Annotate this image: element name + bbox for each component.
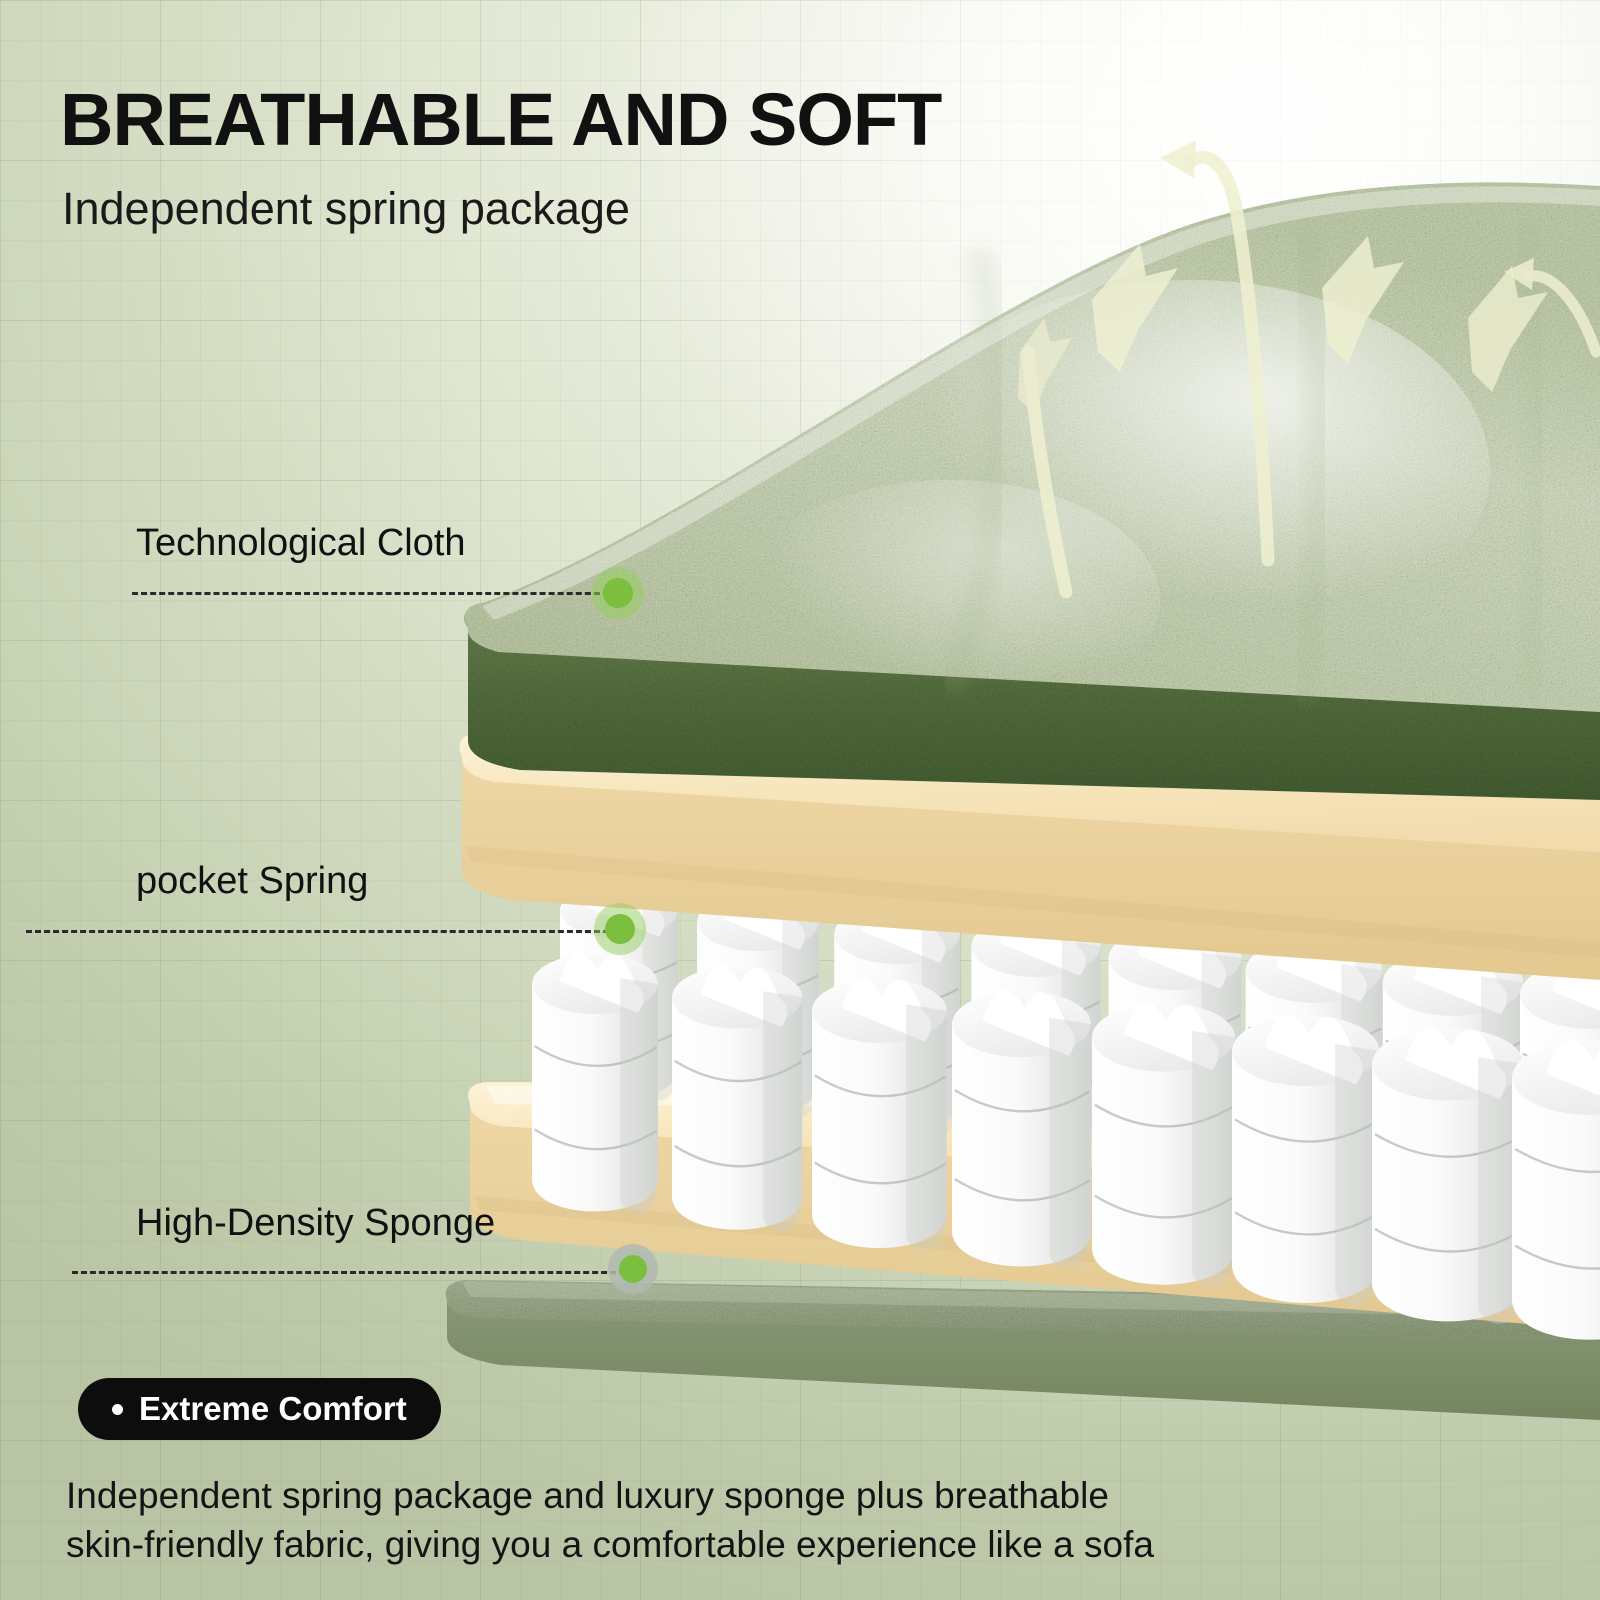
callout-marker-spring (594, 903, 646, 955)
leader-line-cloth (132, 592, 618, 595)
layer-technological-cloth (464, 182, 1600, 800)
pocket-coil (532, 953, 658, 1213)
pocket-coil (1372, 1027, 1524, 1324)
mattress-exploded-diagram (0, 0, 1600, 1600)
page-title: BREATHABLE AND SOFT (60, 83, 941, 157)
body-line-2: skin-friendly fabric, giving you a comfo… (66, 1521, 1246, 1570)
badge-label: Extreme Comfort (139, 1390, 407, 1428)
callout-label-pocket-spring: pocket Spring (136, 862, 368, 900)
leader-line-sponge (72, 1271, 634, 1274)
callout-marker-sponge (608, 1244, 658, 1294)
body-line-1: Independent spring package and luxury sp… (66, 1472, 1246, 1521)
pocket-coil (1092, 1002, 1235, 1287)
pocket-coil (812, 978, 947, 1251)
callout-label-technological-cloth: Technological Cloth (136, 524, 466, 562)
callout-marker-cloth (592, 567, 644, 619)
pocket-coil (952, 990, 1091, 1269)
pocket-coil (1232, 1015, 1379, 1306)
infographic-canvas: BREATHABLE AND SOFT Independent spring p… (0, 0, 1600, 1600)
marker-core (605, 914, 635, 944)
body-copy: Independent spring package and luxury sp… (66, 1472, 1246, 1570)
marker-core (619, 1255, 647, 1283)
leader-line-spring (26, 930, 618, 933)
marker-core (603, 578, 633, 608)
pocket-coil (672, 965, 802, 1232)
callout-label-high-density-sponge: High-Density Sponge (136, 1204, 495, 1242)
pocket-coil (1512, 1039, 1600, 1342)
bullet-icon (112, 1404, 123, 1415)
page-subtitle: Independent spring package (62, 186, 630, 231)
status-badge: Extreme Comfort (78, 1378, 441, 1440)
